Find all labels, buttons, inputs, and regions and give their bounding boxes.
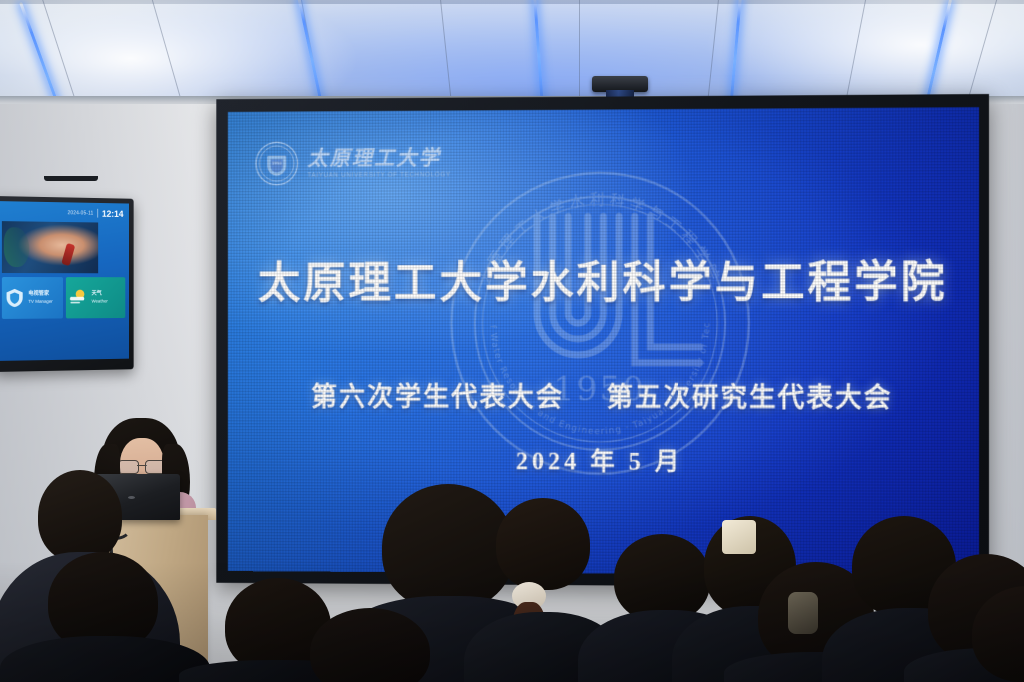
tv-tile-sublabel: TV Manager xyxy=(28,298,52,303)
tv-tile-label-group: 电视管家 TV Manager xyxy=(28,291,52,305)
tv-hero-accent xyxy=(61,243,75,266)
university-emblem-icon: 1950 xyxy=(255,141,299,186)
university-name-en: TAIYUAN UNIVERSITY OF TECHNOLOGY xyxy=(307,172,450,180)
tv-tile-weather[interactable]: 天气 Weather xyxy=(66,277,125,318)
university-name-block: 太原理工大学 TAIYUAN UNIVERSITY OF TECHNOLOGY xyxy=(307,147,450,179)
tv-status-bar: 2024-05-11 12:14 xyxy=(0,205,129,220)
slide-date: 2024 年 5 月 xyxy=(228,441,979,479)
tv-screen[interactable]: 2024-05-11 12:14 电视管家 xyxy=(0,201,129,361)
tv-mount-bracket xyxy=(44,176,98,181)
conference-room-photo: 太原理工大学水利科学与工程学院 School of Water Resource… xyxy=(0,0,1024,682)
eyeglasses-icon xyxy=(118,460,166,472)
tv-hero-foliage xyxy=(4,227,29,267)
ceiling xyxy=(0,0,1024,108)
hair-claw-clip xyxy=(788,592,818,634)
slide-subtitle: 第六次学生代表大会 第五次研究生代表大会 xyxy=(228,375,979,415)
audience-head xyxy=(614,534,710,622)
slide-title: 太原理工大学水利科学与工程学院 xyxy=(228,257,979,310)
slide-text-block: 太原理工大学水利科学与工程学院 第六次学生代表大会 第五次研究生代表大会 202… xyxy=(228,257,979,479)
emblem-year: 1950 xyxy=(272,160,282,165)
slide-subtitle-left: 第六次学生代表大会 xyxy=(311,382,564,412)
tv-tile-tv-manager[interactable]: 电视管家 TV Manager xyxy=(2,277,63,319)
ceiling-tile-line xyxy=(579,0,580,108)
audience-head xyxy=(496,498,590,590)
tv-status-date: 2024-05-11 xyxy=(68,210,94,216)
wall-mounted-tv: 2024-05-11 12:14 电视管家 xyxy=(0,196,134,372)
audience-head xyxy=(38,470,122,562)
tv-clock: 12:14 xyxy=(102,208,124,218)
ceiling-light-wash-right xyxy=(676,0,1024,108)
university-name-cn: 太原理工大学 xyxy=(307,147,450,169)
weather-icon xyxy=(68,287,89,309)
tv-tile-label-group: 天气 Weather xyxy=(92,291,108,305)
tv-tile-label: 电视管家 xyxy=(28,291,52,299)
tv-hero-banner[interactable] xyxy=(2,221,98,273)
audience-head xyxy=(382,484,514,610)
tv-tile-label: 天气 xyxy=(92,291,108,298)
shield-icon xyxy=(4,287,26,309)
university-logo: 1950 太原理工大学 TAIYUAN UNIVERSITY OF TECHNO… xyxy=(255,140,451,186)
ceiling-light-wash-left xyxy=(0,0,389,108)
slide-subtitle-right: 第五次研究生代表大会 xyxy=(607,382,893,412)
tv-tile-sublabel: Weather xyxy=(92,298,108,303)
tv-tile-row: 电视管家 TV Manager 天气 Weather xyxy=(2,277,125,319)
tv-status-divider xyxy=(97,209,98,218)
hair-clip xyxy=(722,520,756,554)
audience xyxy=(0,480,1024,682)
glasses-lens-left xyxy=(118,460,139,474)
